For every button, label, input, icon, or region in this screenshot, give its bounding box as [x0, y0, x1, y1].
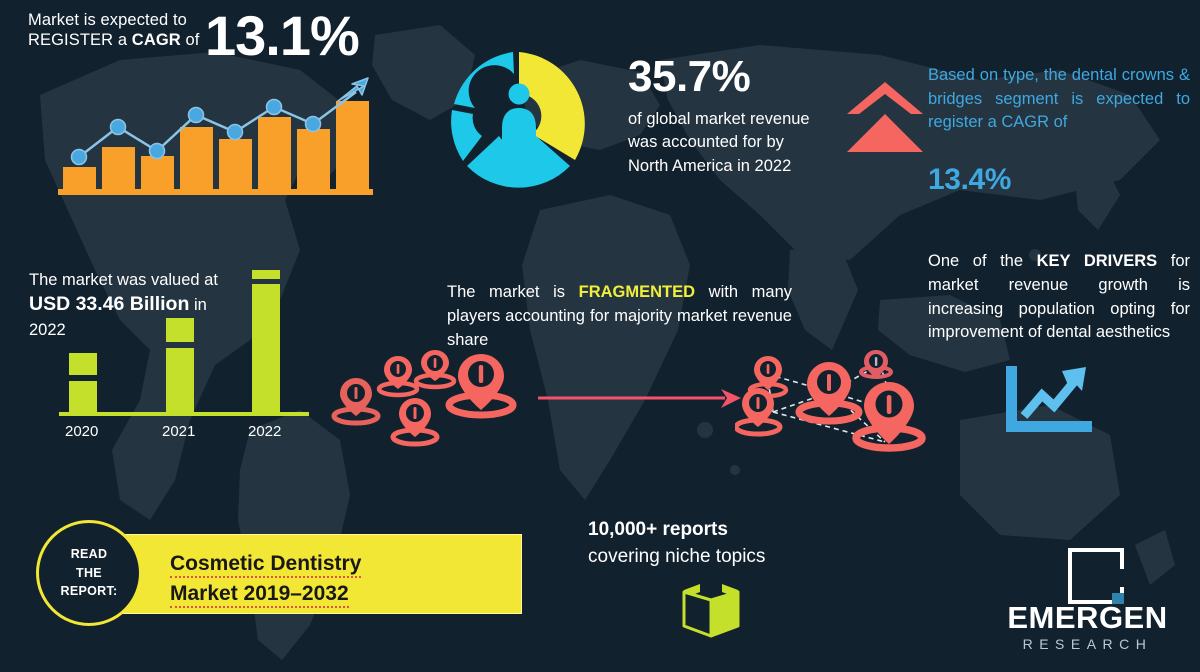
key-drivers-bold: KEY DRIVERS — [1037, 252, 1158, 270]
square-bracket-icon — [1067, 547, 1125, 605]
map-pin — [393, 398, 437, 444]
bar-2022 — [252, 284, 280, 412]
key-drivers-pre: One of the — [928, 252, 1037, 270]
regional-revenue-donut-chart — [437, 42, 601, 206]
segment-cagr-value: 13.4% — [928, 162, 1011, 199]
map-pin — [416, 350, 454, 387]
segment-cagr-description: Based on type, the dental crowns & bridg… — [928, 64, 1190, 135]
bar-2021 — [166, 348, 194, 412]
bar-2020 — [69, 381, 97, 412]
bar-label-2022: 2022 — [248, 423, 281, 440]
report-title-line2: Market 2019–2032 — [170, 582, 349, 608]
logo-subtitle: RESEARCH — [985, 636, 1190, 652]
donut-segment-d — [454, 52, 514, 108]
scattered-market-players-pins — [330, 350, 560, 460]
fragmented-highlight: FRAGMENTED — [579, 283, 695, 301]
map-pin — [379, 356, 417, 395]
growth-chart-icon — [1000, 363, 1095, 435]
badge-line1: READ — [71, 547, 108, 561]
infographic-canvas: Market is expected to REGISTER a CAGR of… — [0, 0, 1200, 672]
map-pin — [334, 378, 378, 423]
map-pin — [799, 362, 859, 421]
badge-line2: THE — [76, 566, 102, 580]
fragmented-market-text: The market is FRAGMENTED with many playe… — [447, 281, 792, 352]
connected-market-players-pins — [735, 350, 940, 465]
reports-count: 10,000+ reports — [588, 518, 728, 541]
donut-segment-c — [451, 110, 482, 161]
bar-label-2021: 2021 — [162, 423, 195, 440]
flow-arrow-icon — [535, 385, 745, 410]
badge-line3: REPORT: — [61, 584, 118, 598]
na-share-description: of global market revenue was accounted f… — [628, 108, 818, 178]
double-up-arrow-icon — [845, 80, 925, 158]
na-share-value: 35.7% — [628, 50, 750, 104]
report-title[interactable]: Cosmetic Dentistry Market 2019–2032 — [170, 549, 520, 610]
logo-wordmark: EMERGEN — [985, 600, 1190, 636]
bar-label-2020: 2020 — [65, 423, 98, 440]
reports-subtitle: covering niche topics — [588, 545, 765, 568]
read-report-badge[interactable]: READ THE REPORT: — [36, 520, 142, 626]
key-drivers-text: One of the KEY DRIVERS for market revenu… — [928, 250, 1190, 345]
open-book-icon — [680, 580, 742, 638]
read-report-badge-label: READ THE REPORT: — [61, 545, 118, 601]
map-pin — [449, 354, 513, 415]
map-pin — [856, 382, 922, 448]
market-value-bar-chart: 2020 2021 2022 — [55, 270, 315, 445]
report-title-line1: Cosmetic Dentistry — [170, 552, 361, 578]
fragmented-pre: The market is — [447, 283, 579, 301]
map-pin — [861, 350, 891, 378]
